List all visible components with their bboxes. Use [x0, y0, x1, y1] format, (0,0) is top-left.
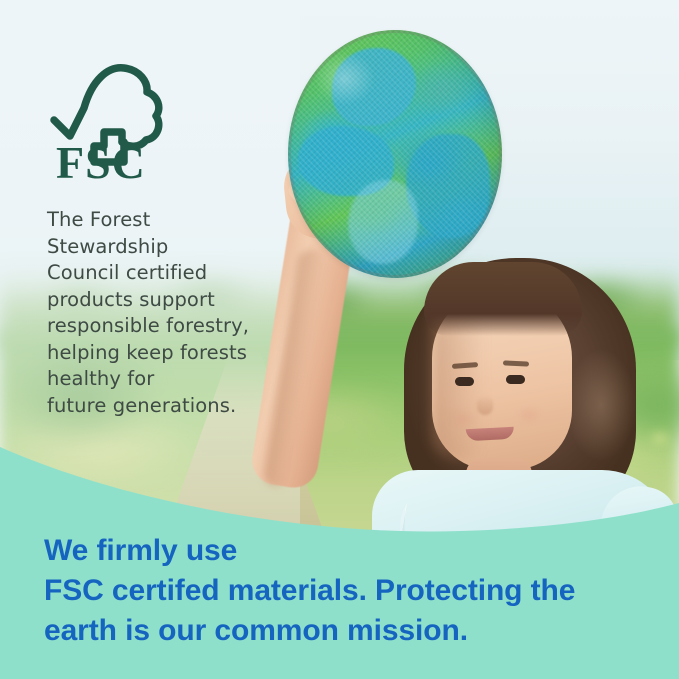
fsc-description-text: The Forest Stewardship Council certified… — [47, 207, 283, 419]
eye-right — [506, 375, 525, 384]
hair-bangs — [424, 262, 582, 336]
cheek-right — [512, 404, 546, 426]
nose — [477, 395, 493, 415]
cheek-left — [446, 408, 480, 430]
fsc-promo-poster: FSC The Forest Stewardship Council certi… — [0, 0, 679, 679]
banner-headline: We firmly use FSC certifed materials. Pr… — [44, 531, 644, 651]
globe-highlight — [310, 52, 396, 128]
fsc-wordmark: FSC — [56, 140, 166, 186]
eye-left — [455, 377, 474, 386]
